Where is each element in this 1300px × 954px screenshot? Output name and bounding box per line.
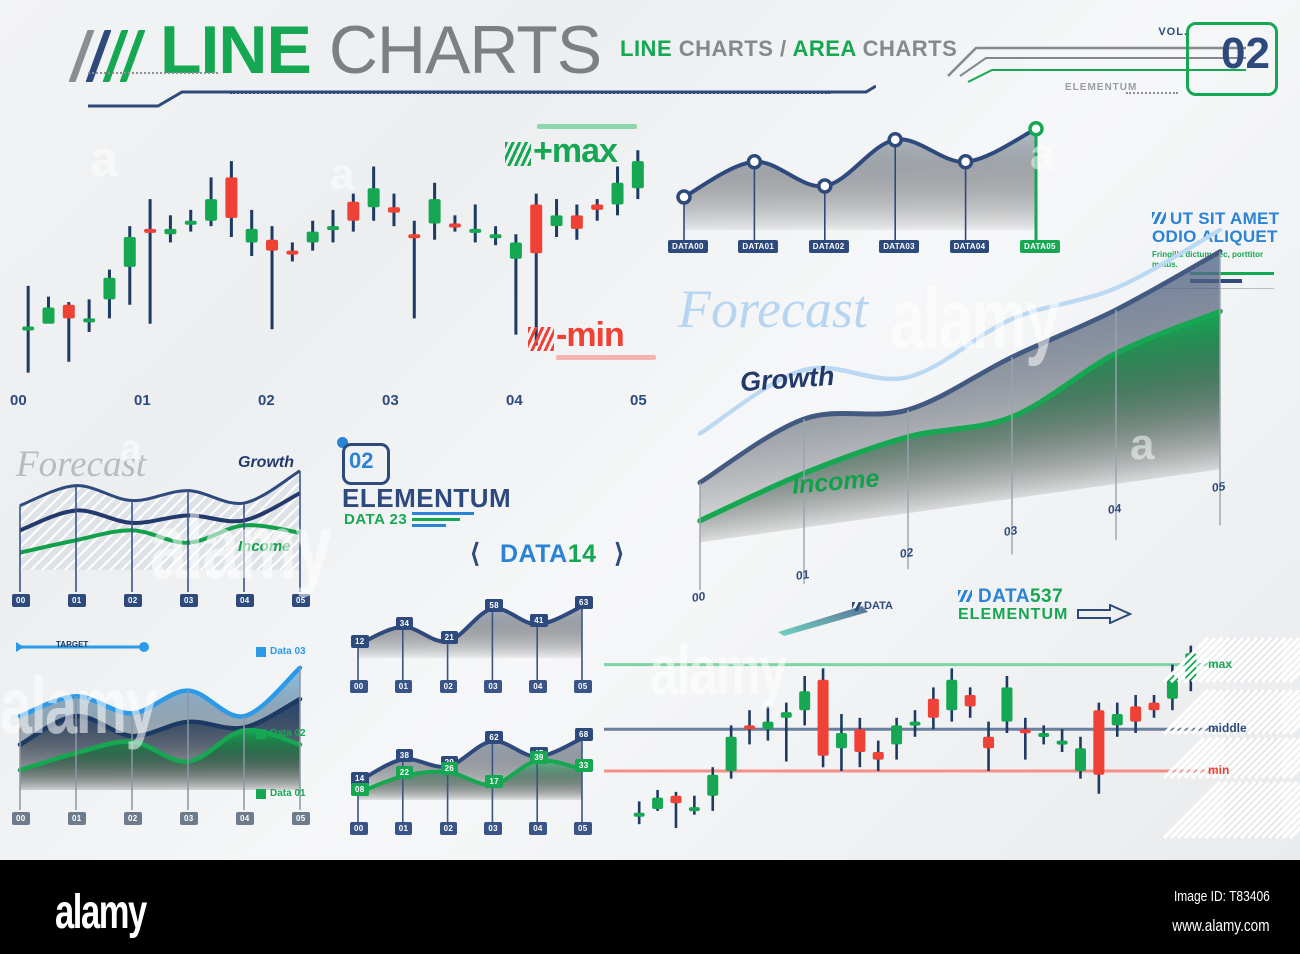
volume-label: VOL. [1158,26,1188,38]
reference-line-label-max: max [1208,657,1232,671]
data-label-mid-double-b: 22 [396,766,414,779]
axis-badge-mid-double: 04 [529,822,547,835]
hatch-panel [1164,738,1300,778]
axis-label-forecast-big: 05 [1212,479,1225,495]
legend-label: Data 01 [270,788,306,799]
data537-number: 537 [1030,586,1063,607]
max-underline [537,124,637,129]
axis-badge-area-multi: 04 [236,812,254,825]
volume-number: 02 [1221,32,1270,76]
subtitle-green-2: AREA [792,36,856,61]
axis-badge-mid-double: 02 [440,822,458,835]
axis-label-forecast-big: 01 [796,567,809,583]
data537-sub: ELEMENTUM [958,606,1068,624]
axis-label-candles-top: 03 [382,392,399,409]
data-label-mid-single: 12 [351,635,369,648]
data-label-mid-double-b: 17 [485,775,503,788]
axis-label-candles-top: 02 [258,392,275,409]
forecast-small-growth-label: Growth [238,454,294,472]
hatch-min-icon [528,327,554,351]
legend-item: Data 01 [256,788,306,799]
data-label-mid-double-b: 39 [530,751,548,764]
data-label-mid-double-b: 33 [575,759,593,772]
min-label: -min [556,316,624,355]
axis-badge-forecast-small: 04 [236,594,254,607]
page-title: LINE CHARTS [160,16,601,84]
data537-arrow-icon [1076,604,1132,624]
mid-single-svg [340,580,600,695]
line-chart-mid-double [340,712,600,837]
legend-item: Data 02 [256,728,306,739]
data537-prefix: DATA [978,586,1030,607]
footer-bar: alamy Image ID: T83406 www.alamy.com [0,860,1300,954]
header-dot-line-1 [88,72,218,74]
axis-badge-mid-double: 00 [350,822,368,835]
data14-label: DATA14 [500,540,597,569]
axis-badge-mid-single: 01 [395,680,413,693]
elementum-title: ELEMENTUM [342,483,511,514]
axis-label-forecast-big: 00 [692,589,705,605]
footer-url[interactable]: www.alamy.com [1173,916,1270,936]
axis-label-forecast-big: 02 [900,545,913,561]
data-label-mid-double-b: 26 [441,762,459,775]
data-label-mid-single: 21 [441,631,459,644]
axis-badge-forecast-small: 01 [68,594,86,607]
axis-badge-forecast-small: 00 [12,594,30,607]
legend-swatch [256,647,266,657]
axis-badge-mid-single: 00 [350,680,368,693]
axis-label-candles-top: 00 [10,392,27,409]
axis-badge-mid-single: 03 [484,680,502,693]
forecast-small-title: Forecast [16,443,146,486]
poster-canvas: LINE CHARTS LINE CHARTS / AREA CHARTS EL… [0,0,1300,860]
axis-badge-area-multi: 02 [124,812,142,825]
axis-label-candles-top: 05 [630,392,647,409]
data-label-mid-single: 63 [575,596,593,609]
data-label-mid-double-a: 62 [485,731,503,744]
axis-badge-mid-double: 05 [574,822,592,835]
axis-badge-mid-single: 04 [529,680,547,693]
subtitle-grey-2: CHARTS [863,36,958,61]
legend-label: Data 02 [270,728,306,739]
hatch-max-icon [505,142,531,166]
axis-badge-mid-double: 03 [484,822,502,835]
alamy-logo: alamy [55,885,146,940]
mid-double-svg [340,712,600,837]
reference-line-label-middle: middle [1208,721,1247,735]
header-elementum-tag: ELEMENTUM [1065,82,1137,93]
subtitle: LINE CHARTS / AREA CHARTS [620,36,957,62]
elementum-decor-lines-icon [412,512,482,528]
hatch-panel [1164,782,1300,838]
axis-badge-mid-single: 02 [440,680,458,693]
image-id: Image ID: T83406 [1174,888,1270,905]
subtitle-green-1: LINE [620,36,672,61]
axis-badge-area-multi: 01 [68,812,86,825]
axis-badge-forecast-small: 02 [124,594,142,607]
data-label-mid-double-a: 68 [575,728,593,741]
data-arrow-hatch-icon [852,602,862,611]
forecast-big-title: Forecast [678,278,868,340]
axis-badge-mid-double: 01 [395,822,413,835]
legend-label: Data 03 [270,646,306,657]
data-label-mid-single: 34 [396,617,414,630]
slash-logo-icon [78,30,150,82]
forecast-big-growth-label: Growth [739,361,835,399]
chevron-left-icon: ⟨ [470,538,480,569]
axis-badge-area-multi: 03 [180,812,198,825]
target-slider-label: TARGET [56,640,88,649]
subtitle-grey-1: CHARTS / [679,36,787,61]
axis-label-forecast-big: 03 [1004,523,1017,539]
axis-badge-mid-single: 05 [574,680,592,693]
data14-number: 14 [568,540,597,568]
data-label-mid-double-b: 08 [351,783,369,796]
header-dot-line-2 [230,92,830,94]
data-label-mid-double-a: 38 [396,749,414,762]
candlestick-bottom-svg [600,628,1300,843]
data-label-mid-single: 41 [530,614,548,627]
data-label-mid-single: 58 [485,599,503,612]
axis-badge-forecast-small: 03 [180,594,198,607]
max-label: +max [533,132,617,171]
chevron-right-icon: ⟩ [614,538,624,569]
legend-swatch [256,729,266,739]
data537-label: DATA537 [978,586,1063,608]
header-blue-line-icon [86,76,876,112]
axis-label-candles-top: 01 [134,392,151,409]
line-chart-mid-single [340,580,600,695]
forecast-small-income-label: Income [238,538,291,555]
legend-swatch [256,789,266,799]
infographic-poster: LINE CHARTS LINE CHARTS / AREA CHARTS EL… [0,0,1300,954]
axis-badge-forecast-small: 05 [292,594,310,607]
candlestick-chart-bottom [600,628,1300,843]
axis-label-forecast-big: 04 [1108,501,1121,517]
min-underline [556,355,656,360]
axis-badge-area-multi: 05 [292,812,310,825]
poster-header: LINE CHARTS LINE CHARTS / AREA CHARTS EL… [0,0,1300,110]
data-arrow-label: DATA [864,600,893,612]
axis-badge-area-multi: 00 [12,812,30,825]
elementum-subtitle: DATA 23 [344,511,407,528]
data14-prefix: DATA [500,540,568,568]
legend-item: Data 03 [256,646,306,657]
reference-line-label-min: min [1208,763,1229,777]
elementum-number: 02 [349,448,373,474]
axis-label-candles-top: 04 [506,392,523,409]
data537-hatch-icon [958,590,972,602]
